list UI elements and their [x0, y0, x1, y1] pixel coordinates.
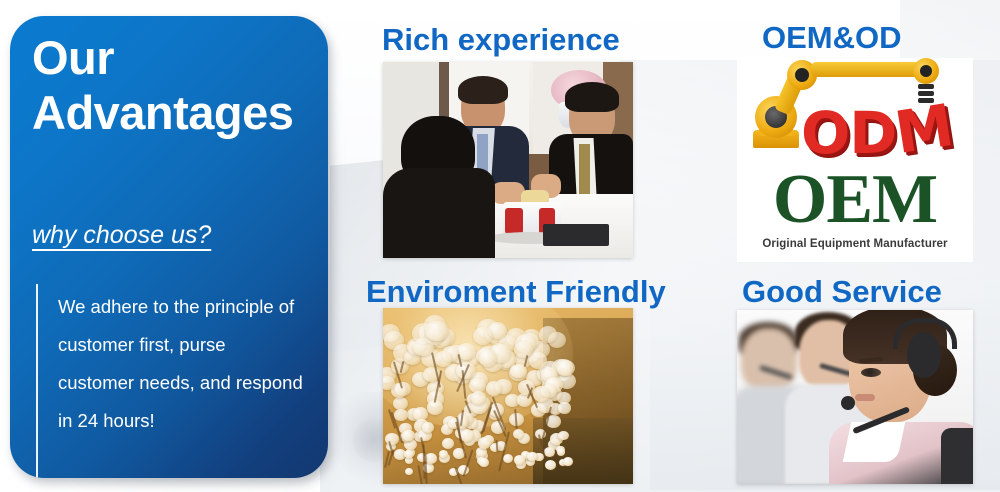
heading-enviroment-friendly: Enviroment Friendly: [366, 274, 666, 310]
panel-subtitle: why choose us?: [32, 221, 211, 250]
oem-caption: Original Equipment Manufacturer: [737, 238, 973, 250]
advantages-banner: Our Advantages why choose us? We adhere …: [0, 0, 1000, 492]
heading-rich-experience: Rich experience: [382, 22, 620, 58]
panel-divider-rule: [36, 284, 38, 478]
oem-wordmark: OEM: [747, 164, 963, 236]
photo-customer-service: [737, 310, 973, 484]
heading-oem-od: OEM&OD: [762, 20, 902, 56]
page-title-line2: Advantages: [32, 85, 328, 140]
page-title-line1: Our: [32, 31, 114, 84]
page-title: Our Advantages: [32, 30, 328, 140]
photo-cotton-field: [383, 308, 633, 484]
heading-good-service: Good Service: [742, 274, 942, 310]
panel-body-text: We adhere to the principle of customer f…: [58, 288, 306, 440]
advantages-panel: Our Advantages why choose us? We adhere …: [10, 16, 328, 478]
photo-business-meeting: [383, 62, 633, 258]
odm-wordmark: ODM: [801, 102, 973, 164]
photo-oem-odm-logo: ODM OEM Original Equipment Manufacturer: [737, 58, 973, 262]
